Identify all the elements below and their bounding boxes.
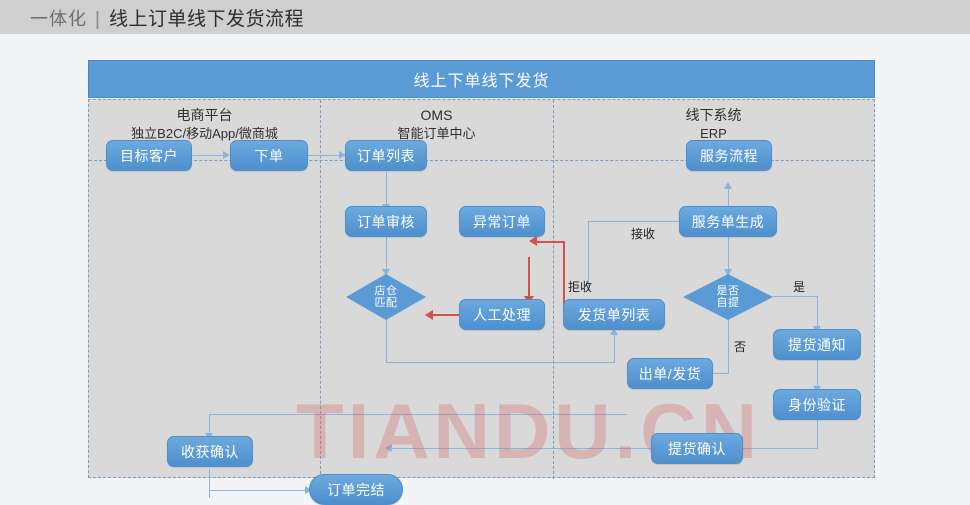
edge-match-down	[386, 319, 387, 363]
lane-header-ecommerce: 电商平台 独立B2C/移动App/微商城	[89, 106, 320, 142]
edge-label-accept: 接收	[631, 225, 655, 242]
flowchart-pool: 电商平台 独立B2C/移动App/微商城 OMS 智能订单中心 线下系统 ERP	[88, 99, 875, 478]
edge-notice-to-identity	[817, 359, 818, 389]
flowchart-frame: 线上下单线下发货 电商平台 独立B2C/移动App/微商城 OMS 智能订单中心…	[88, 60, 875, 478]
edge-pickupconfirm-to-complete	[389, 448, 651, 449]
node-service-flow[interactable]: 服务流程	[686, 140, 772, 171]
header-kicker: 一体化	[30, 5, 87, 31]
node-pickup-notice[interactable]: 提货通知	[773, 329, 861, 360]
node-order-list[interactable]: 订单列表	[345, 140, 427, 171]
node-manual-process[interactable]: 人工处理	[459, 299, 545, 330]
page-header-bar: 一体化 | 线上订单线下发货流程	[0, 0, 970, 34]
edge-decision-no-down	[728, 319, 729, 374]
edge-ship-to-receive-left	[209, 414, 627, 415]
page-header-title-group: 一体化 | 线上订单线下发货流程	[30, 4, 304, 31]
node-store-warehouse-match[interactable]: 店仓 匹配	[346, 274, 426, 320]
edge-pickupconfirm-to-complete-arrow	[385, 444, 392, 452]
header-separator: |	[95, 9, 100, 31]
edge-customer-to-order	[192, 155, 225, 156]
edge-order-to-orderlist	[308, 155, 341, 156]
edge-match-to-shipmentlist	[614, 333, 615, 363]
edge-decision-yes-down	[817, 296, 818, 329]
lane-header-offline: 线下系统 ERP	[553, 106, 874, 142]
screen-root: 一体化 | 线上订单线下发货流程 线上下单线下发货 电商平台 独立B2C/移动A…	[0, 0, 970, 490]
lane-divider-1	[320, 100, 321, 479]
node-pickup-confirm[interactable]: 提货确认	[651, 433, 743, 464]
node-identity-verify[interactable]: 身份验证	[773, 389, 861, 420]
edge-receive-down2	[209, 469, 210, 491]
edge-label-yes: 是	[793, 278, 805, 295]
node-service-order-generate[interactable]: 服务单生成	[679, 206, 777, 237]
node-self-pickup-decision-label: 是否 自提	[717, 285, 740, 309]
node-order-review[interactable]: 订单审核	[345, 206, 427, 237]
edge-label-reject: 拒收	[568, 278, 592, 295]
edge-review-to-match	[386, 237, 387, 272]
lane-header-oms-name: OMS	[320, 106, 553, 125]
lane-header-offline-name: 线下系统	[553, 106, 874, 125]
node-store-warehouse-match-line1: 店仓	[375, 285, 398, 297]
node-self-pickup-decision-line1: 是否	[717, 285, 740, 297]
lane-header-ecommerce-name: 电商平台	[89, 106, 320, 125]
edge-orderlist-to-review	[386, 172, 387, 207]
node-self-pickup-decision-line2: 自提	[717, 297, 740, 309]
node-place-order[interactable]: 下单	[230, 140, 308, 171]
flowchart-banner-title: 线上下单线下发货	[413, 67, 549, 91]
edge-reject-to-abnormal-arrow	[529, 236, 537, 246]
edge-decision-yes-right	[773, 296, 818, 297]
edge-label-no: 否	[734, 338, 746, 355]
edge-identity-down	[817, 420, 818, 449]
edge-customer-to-order-arrow	[223, 151, 230, 159]
lane-divider-2	[553, 100, 554, 479]
node-shipment-list[interactable]: 发货单列表	[563, 299, 665, 330]
edge-abnormal-to-manual	[528, 257, 530, 299]
flowchart-banner: 线上下单线下发货	[88, 60, 875, 98]
edge-receive-right	[209, 490, 307, 491]
edge-manual-to-match-arrow	[425, 310, 433, 320]
edge-serviceorder-to-decision	[728, 237, 729, 272]
node-target-customer[interactable]: 目标客户	[106, 140, 192, 171]
node-issue-ship[interactable]: 出单/发货	[627, 358, 713, 389]
lane-header-oms: OMS 智能订单中心	[320, 106, 553, 142]
node-abnormal-order[interactable]: 异常订单	[459, 206, 545, 237]
node-receive-confirm[interactable]: 收获确认	[167, 436, 253, 467]
node-store-warehouse-match-label: 店仓 匹配	[375, 285, 398, 309]
edge-serviceorder-to-serviceflow-arrow	[724, 182, 732, 189]
node-self-pickup-decision[interactable]: 是否 自提	[683, 274, 773, 320]
edge-match-right	[386, 362, 615, 363]
node-store-warehouse-match-line2: 匹配	[375, 297, 398, 309]
edge-reject-to-abnormal	[535, 241, 565, 243]
page-title: 线上订单线下发货流程	[109, 4, 304, 31]
